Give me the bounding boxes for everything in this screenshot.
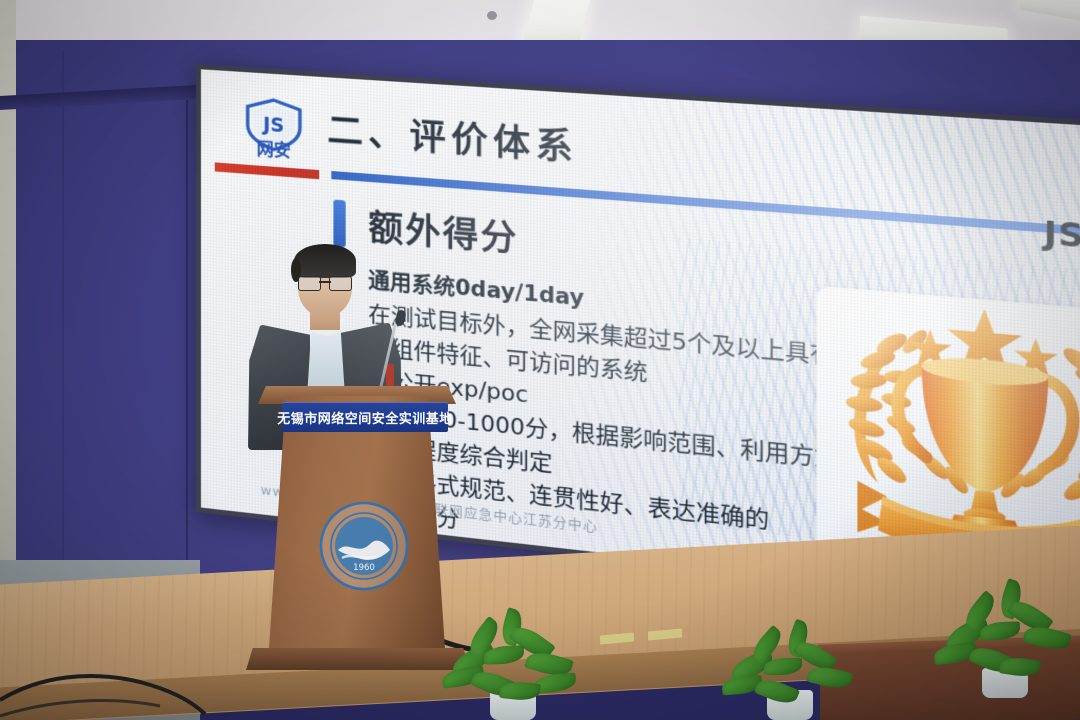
slide-title: 二、评价体系 bbox=[327, 102, 578, 172]
jsc-text: JSC bbox=[1044, 215, 1080, 259]
university-seal-emblem-icon: 1960 bbox=[318, 500, 410, 592]
hair bbox=[294, 244, 356, 278]
potted-plant bbox=[930, 588, 1080, 698]
smoke-detector-icon bbox=[487, 11, 497, 20]
jsc-corner-mark: JSC bbox=[1044, 215, 1080, 262]
js-shield-logo-icon: JS 网安 bbox=[237, 96, 311, 164]
title-rule-red bbox=[215, 162, 319, 179]
potted-plant bbox=[720, 626, 860, 720]
podium-base bbox=[246, 648, 470, 670]
ceiling-light-icon bbox=[523, 0, 593, 43]
lapel-badge bbox=[386, 364, 394, 386]
svg-text:JS: JS bbox=[261, 113, 284, 137]
potted-plant bbox=[438, 616, 588, 720]
podium-sign: 无锡市网络空间安全实训基地 bbox=[282, 402, 448, 432]
emblem-year: 1960 bbox=[353, 563, 375, 573]
logo-name-cn: 网安 bbox=[257, 138, 291, 161]
wall-panel-seam bbox=[186, 100, 188, 620]
podium-sign-text: 无锡市网络空间安全实训基地 bbox=[277, 408, 453, 427]
wall-panel-seam bbox=[62, 50, 64, 610]
eyeglasses-icon bbox=[298, 276, 352, 289]
ceiling-light-icon bbox=[1020, 0, 1080, 22]
presentation-room-photo: JS 网安 二、评价体系 额外得分 通用系统0day/1day 在测试目标外，全… bbox=[0, 0, 1080, 720]
floor-cable bbox=[0, 630, 300, 720]
